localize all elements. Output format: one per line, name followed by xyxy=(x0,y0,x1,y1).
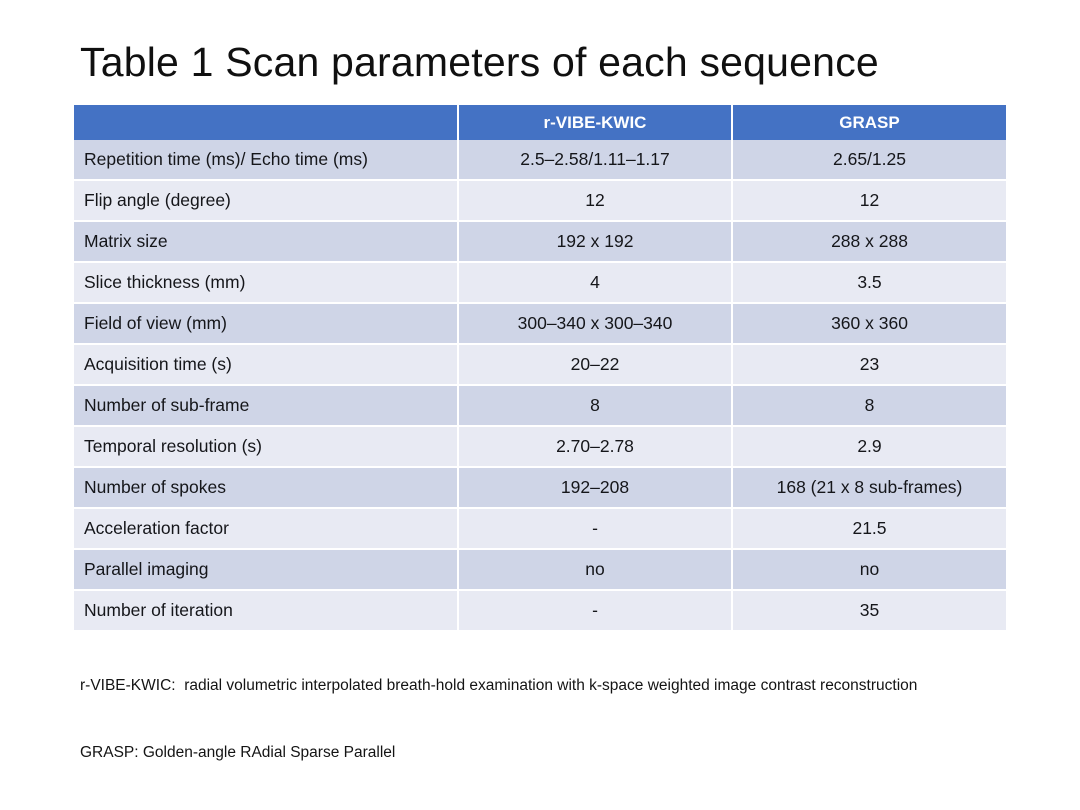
row-value-rvibe: 8 xyxy=(458,385,732,426)
table-row: Matrix size 192 x 192 288 x 288 xyxy=(74,221,1006,262)
table-header: r-VIBE-KWIC GRASP xyxy=(74,105,1006,140)
row-parameter-label: Temporal resolution (s) xyxy=(74,426,458,467)
row-value-rvibe: 2.70–2.78 xyxy=(458,426,732,467)
row-parameter-label: Acceleration factor xyxy=(74,508,458,549)
row-parameter-label: Matrix size xyxy=(74,221,458,262)
table-row: Parallel imaging no no xyxy=(74,549,1006,590)
row-value-rvibe: - xyxy=(458,508,732,549)
row-parameter-label: Field of view (mm) xyxy=(74,303,458,344)
row-value-grasp: 288 x 288 xyxy=(732,221,1006,262)
table-row: Slice thickness (mm) 4 3.5 xyxy=(74,262,1006,303)
row-value-rvibe: 4 xyxy=(458,262,732,303)
scan-parameters-table: r-VIBE-KWIC GRASP Repetition time (ms)/ … xyxy=(74,105,1006,630)
table-row: Flip angle (degree) 12 12 xyxy=(74,180,1006,221)
row-value-grasp: 35 xyxy=(732,590,1006,630)
row-value-rvibe: no xyxy=(458,549,732,590)
row-value-grasp: 21.5 xyxy=(732,508,1006,549)
table-row: Acquisition time (s) 20–22 23 xyxy=(74,344,1006,385)
table-row: Temporal resolution (s) 2.70–2.78 2.9 xyxy=(74,426,1006,467)
column-header-parameter xyxy=(74,105,458,140)
row-value-rvibe: 2.5–2.58/1.11–1.17 xyxy=(458,140,732,180)
row-value-grasp: 8 xyxy=(732,385,1006,426)
scan-parameters-table-container: r-VIBE-KWIC GRASP Repetition time (ms)/ … xyxy=(74,105,1006,630)
row-value-rvibe: - xyxy=(458,590,732,630)
row-parameter-label: Repetition time (ms)/ Echo time (ms) xyxy=(74,140,458,180)
table-row: Field of view (mm) 300–340 x 300–340 360… xyxy=(74,303,1006,344)
row-value-grasp: 168 (21 x 8 sub-frames) xyxy=(732,467,1006,508)
row-value-grasp: 360 x 360 xyxy=(732,303,1006,344)
row-value-rvibe: 12 xyxy=(458,180,732,221)
slide-canvas: Table 1 Scan parameters of each sequence… xyxy=(0,0,1080,720)
table-row: Acceleration factor - 21.5 xyxy=(74,508,1006,549)
row-parameter-label: Number of iteration xyxy=(74,590,458,630)
column-header-rvibe-kwic: r-VIBE-KWIC xyxy=(458,105,732,140)
row-value-rvibe: 300–340 x 300–340 xyxy=(458,303,732,344)
table-row: Repetition time (ms)/ Echo time (ms) 2.5… xyxy=(74,140,1006,180)
row-parameter-label: Parallel imaging xyxy=(74,549,458,590)
row-parameter-label: Acquisition time (s) xyxy=(74,344,458,385)
row-parameter-label: Number of sub-frame xyxy=(74,385,458,426)
row-value-grasp: no xyxy=(732,549,1006,590)
row-parameter-label: Slice thickness (mm) xyxy=(74,262,458,303)
row-value-grasp: 2.65/1.25 xyxy=(732,140,1006,180)
row-value-grasp: 23 xyxy=(732,344,1006,385)
row-value-grasp: 2.9 xyxy=(732,426,1006,467)
row-value-rvibe: 192–208 xyxy=(458,467,732,508)
table-row: Number of sub-frame 8 8 xyxy=(74,385,1006,426)
row-value-grasp: 12 xyxy=(732,180,1006,221)
row-parameter-label: Flip angle (degree) xyxy=(74,180,458,221)
row-value-grasp: 3.5 xyxy=(732,262,1006,303)
footnote-grasp: GRASP: Golden-angle RAdial Sparse Parall… xyxy=(80,742,1040,764)
table-row: Number of spokes 192–208 168 (21 x 8 sub… xyxy=(74,467,1006,508)
row-value-rvibe: 192 x 192 xyxy=(458,221,732,262)
row-parameter-label: Number of spokes xyxy=(74,467,458,508)
page-title: Table 1 Scan parameters of each sequence xyxy=(80,40,1020,85)
row-value-rvibe: 20–22 xyxy=(458,344,732,385)
table-body: Repetition time (ms)/ Echo time (ms) 2.5… xyxy=(74,140,1006,630)
footnote-rvibe-kwic: r-VIBE-KWIC: radial volumetric interpola… xyxy=(80,675,1040,697)
table-row: Number of iteration - 35 xyxy=(74,590,1006,630)
table-header-row: r-VIBE-KWIC GRASP xyxy=(74,105,1006,140)
column-header-grasp: GRASP xyxy=(732,105,1006,140)
